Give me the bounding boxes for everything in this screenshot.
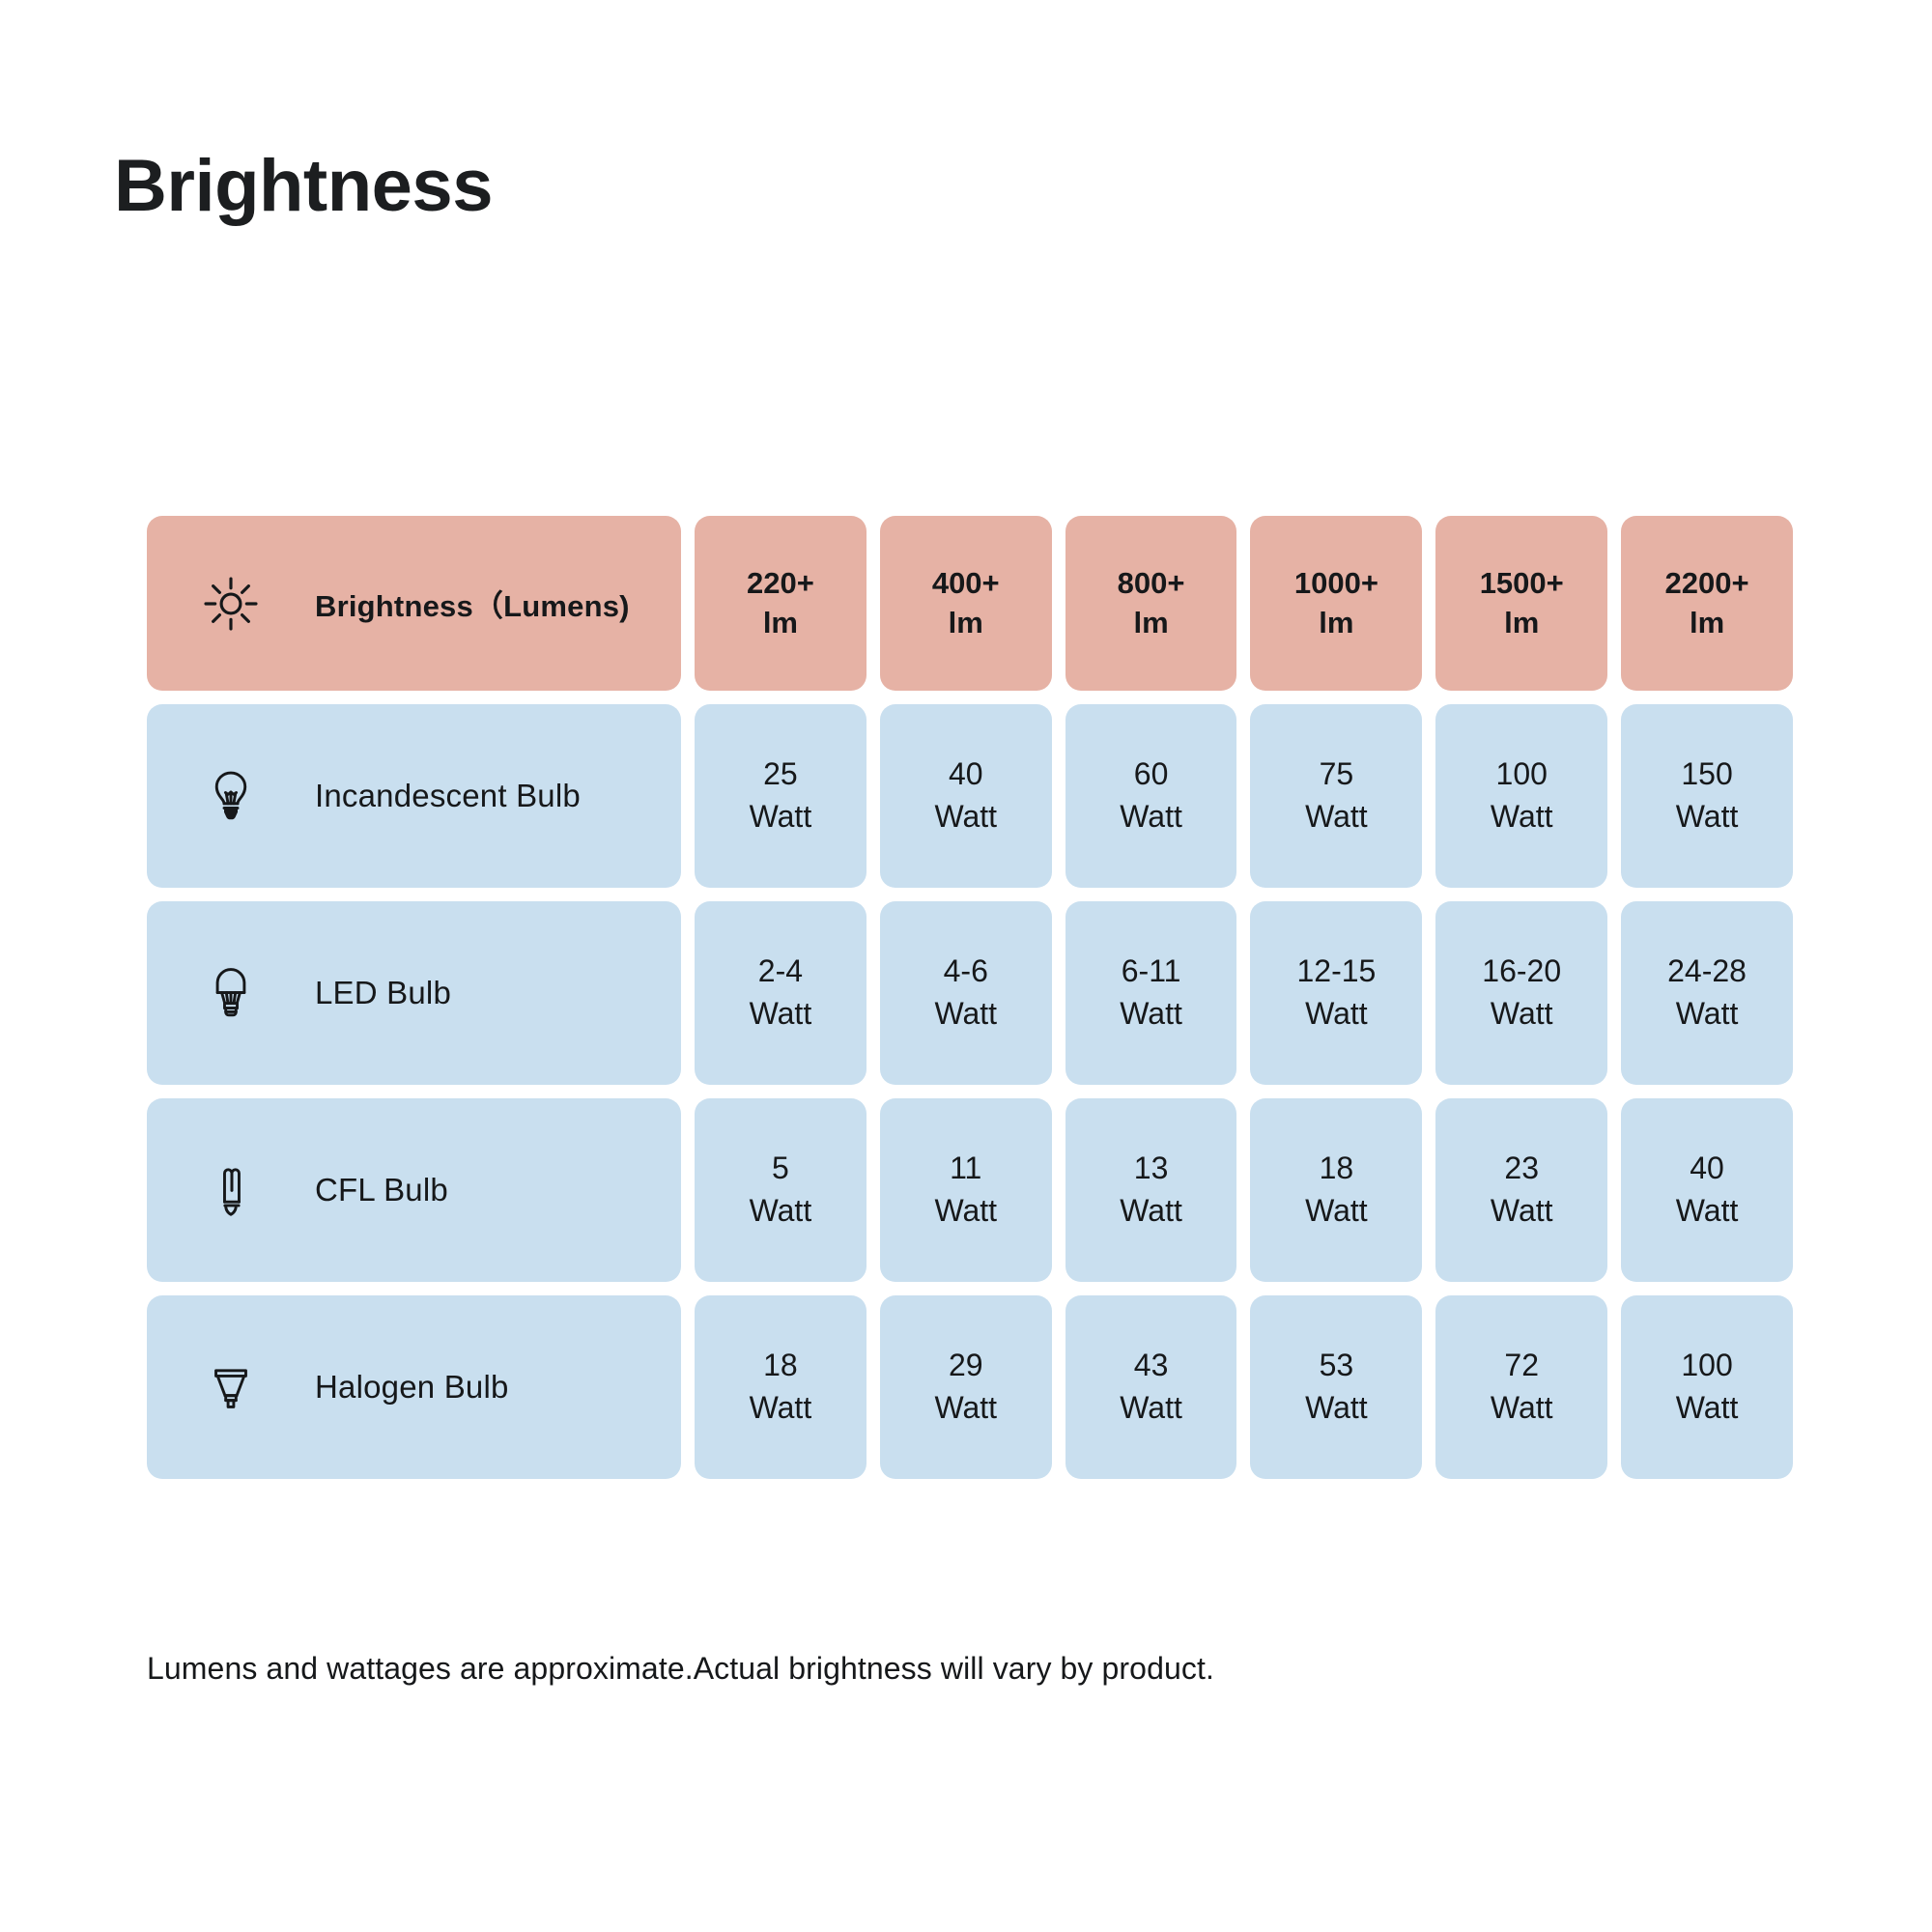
cell-halogen-3-value: 53	[1320, 1345, 1354, 1387]
brightness-comparison-page: Brightness B	[0, 0, 1932, 1932]
cell-halogen-1-value: 29	[949, 1345, 983, 1387]
row-label-cell-halogen: Halogen Bulb	[147, 1295, 681, 1479]
cell-halogen-1-unit: Watt	[934, 1387, 997, 1430]
cell-cfl-2-unit: Watt	[1120, 1190, 1182, 1233]
cell-cfl-4: 23 Watt	[1435, 1098, 1607, 1282]
incandescent-bulb-icon	[203, 768, 259, 824]
header-cell-0: 220+ lm	[695, 516, 867, 691]
cell-led-3: 12-15 Watt	[1250, 901, 1422, 1085]
cell-led-0: 2-4 Watt	[695, 901, 867, 1085]
cell-incandescent-4-value: 100	[1496, 753, 1548, 796]
header-cell-3-unit: lm	[1319, 604, 1353, 643]
table-row: CFL Bulb 5 Watt 11 Watt 13 Watt 18 Watt …	[147, 1098, 1793, 1282]
cell-incandescent-5-value: 150	[1681, 753, 1732, 796]
cell-led-2-unit: Watt	[1120, 993, 1182, 1036]
cell-halogen-3-unit: Watt	[1305, 1387, 1368, 1430]
brightness-comparison-table: Brightness（Lumens) 220+ lm 400+ lm 800+ …	[147, 516, 1793, 1479]
cell-incandescent-5: 150 Watt	[1621, 704, 1793, 888]
halogen-bulb-icon	[203, 1359, 259, 1415]
row-label-text-led: LED Bulb	[315, 975, 451, 1011]
row-label-cell-led: LED Bulb	[147, 901, 681, 1085]
cell-cfl-5-unit: Watt	[1676, 1190, 1739, 1233]
cell-cfl-0: 5 Watt	[695, 1098, 867, 1282]
header-cell-4-value: 1500+	[1480, 564, 1564, 604]
table-header-row: Brightness（Lumens) 220+ lm 400+ lm 800+ …	[147, 516, 1793, 691]
cell-led-5-value: 24-28	[1667, 951, 1747, 993]
cell-cfl-0-value: 5	[772, 1148, 789, 1190]
row-label-text-halogen: Halogen Bulb	[315, 1369, 509, 1406]
cell-led-5: 24-28 Watt	[1621, 901, 1793, 1085]
cell-incandescent-0-value: 25	[763, 753, 798, 796]
cell-led-0-value: 2-4	[758, 951, 803, 993]
cell-halogen-4-unit: Watt	[1491, 1387, 1553, 1430]
cell-cfl-2: 13 Watt	[1065, 1098, 1237, 1282]
table-row: LED Bulb 2-4 Watt 4-6 Watt 6-11 Watt 12-…	[147, 901, 1793, 1085]
sun-icon	[203, 576, 259, 632]
cell-led-4-value: 16-20	[1482, 951, 1561, 993]
cell-halogen-0-value: 18	[763, 1345, 798, 1387]
cell-cfl-5-value: 40	[1690, 1148, 1724, 1190]
cell-led-3-value: 12-15	[1296, 951, 1376, 993]
cell-incandescent-4-unit: Watt	[1491, 796, 1553, 838]
cell-halogen-2: 43 Watt	[1065, 1295, 1237, 1479]
cell-incandescent-1-value: 40	[949, 753, 983, 796]
cell-cfl-1: 11 Watt	[880, 1098, 1052, 1282]
cell-halogen-4-value: 72	[1504, 1345, 1539, 1387]
row-label-cell-cfl: CFL Bulb	[147, 1098, 681, 1282]
header-cell-4: 1500+ lm	[1435, 516, 1607, 691]
cell-halogen-1: 29 Watt	[880, 1295, 1052, 1479]
cell-halogen-2-unit: Watt	[1120, 1387, 1182, 1430]
cell-cfl-3: 18 Watt	[1250, 1098, 1422, 1282]
cell-incandescent-1: 40 Watt	[880, 704, 1052, 888]
cell-halogen-5-unit: Watt	[1676, 1387, 1739, 1430]
cell-incandescent-2-unit: Watt	[1120, 796, 1182, 838]
cell-halogen-2-value: 43	[1134, 1345, 1169, 1387]
page-title: Brightness	[114, 150, 493, 223]
header-cell-5-unit: lm	[1690, 604, 1724, 643]
cell-halogen-5: 100 Watt	[1621, 1295, 1793, 1479]
row-label-cell-incandescent: Incandescent Bulb	[147, 704, 681, 888]
cell-incandescent-3-value: 75	[1320, 753, 1354, 796]
cell-halogen-3: 53 Watt	[1250, 1295, 1422, 1479]
cell-incandescent-2-value: 60	[1134, 753, 1169, 796]
header-label-text: Brightness（Lumens)	[315, 582, 630, 625]
header-cell-1-value: 400+	[932, 564, 1000, 604]
cell-led-4-unit: Watt	[1491, 993, 1553, 1036]
cell-cfl-4-unit: Watt	[1491, 1190, 1553, 1233]
cell-incandescent-0-unit: Watt	[750, 796, 812, 838]
header-label-cell: Brightness（Lumens)	[147, 516, 681, 691]
cell-halogen-4: 72 Watt	[1435, 1295, 1607, 1479]
cell-halogen-0: 18 Watt	[695, 1295, 867, 1479]
cell-incandescent-2: 60 Watt	[1065, 704, 1237, 888]
led-bulb-icon	[203, 965, 259, 1021]
cell-incandescent-4: 100 Watt	[1435, 704, 1607, 888]
header-cell-3: 1000+ lm	[1250, 516, 1422, 691]
cell-incandescent-0: 25 Watt	[695, 704, 867, 888]
row-label-text-cfl: CFL Bulb	[315, 1172, 448, 1208]
header-cell-0-unit: lm	[763, 604, 798, 643]
cell-led-2-value: 6-11	[1122, 951, 1181, 993]
cell-incandescent-5-unit: Watt	[1676, 796, 1739, 838]
cell-led-1: 4-6 Watt	[880, 901, 1052, 1085]
header-cell-2-unit: lm	[1133, 604, 1168, 643]
cell-cfl-1-unit: Watt	[934, 1190, 997, 1233]
cell-halogen-5-value: 100	[1681, 1345, 1732, 1387]
cell-led-5-unit: Watt	[1676, 993, 1739, 1036]
cell-cfl-4-value: 23	[1504, 1148, 1539, 1190]
cfl-bulb-icon	[203, 1162, 259, 1218]
cell-cfl-2-value: 13	[1134, 1148, 1169, 1190]
header-cell-4-unit: lm	[1504, 604, 1539, 643]
header-cell-2: 800+ lm	[1065, 516, 1237, 691]
cell-cfl-0-unit: Watt	[750, 1190, 812, 1233]
cell-incandescent-3: 75 Watt	[1250, 704, 1422, 888]
cell-cfl-3-value: 18	[1320, 1148, 1354, 1190]
cell-incandescent-1-unit: Watt	[934, 796, 997, 838]
footer-note: Lumens and wattages are approximate.Actu…	[147, 1651, 1214, 1687]
cell-incandescent-3-unit: Watt	[1305, 796, 1368, 838]
row-label-text-incandescent: Incandescent Bulb	[315, 778, 581, 814]
header-cell-0-value: 220+	[747, 564, 814, 604]
header-cell-2-value: 800+	[1118, 564, 1185, 604]
header-cell-3-value: 1000+	[1294, 564, 1378, 604]
header-cell-5-value: 2200+	[1665, 564, 1749, 604]
table-row: Halogen Bulb 18 Watt 29 Watt 43 Watt 53 …	[147, 1295, 1793, 1479]
header-cell-1: 400+ lm	[880, 516, 1052, 691]
table-row: Incandescent Bulb 25 Watt 40 Watt 60 Wat…	[147, 704, 1793, 888]
cell-led-3-unit: Watt	[1305, 993, 1368, 1036]
cell-led-1-unit: Watt	[934, 993, 997, 1036]
cell-led-4: 16-20 Watt	[1435, 901, 1607, 1085]
cell-cfl-1-value: 11	[950, 1148, 981, 1190]
cell-halogen-0-unit: Watt	[750, 1387, 812, 1430]
header-cell-5: 2200+ lm	[1621, 516, 1793, 691]
cell-led-1-value: 4-6	[944, 951, 988, 993]
cell-led-2: 6-11 Watt	[1065, 901, 1237, 1085]
header-cell-1-unit: lm	[949, 604, 983, 643]
cell-cfl-5: 40 Watt	[1621, 1098, 1793, 1282]
cell-cfl-3-unit: Watt	[1305, 1190, 1368, 1233]
cell-led-0-unit: Watt	[750, 993, 812, 1036]
